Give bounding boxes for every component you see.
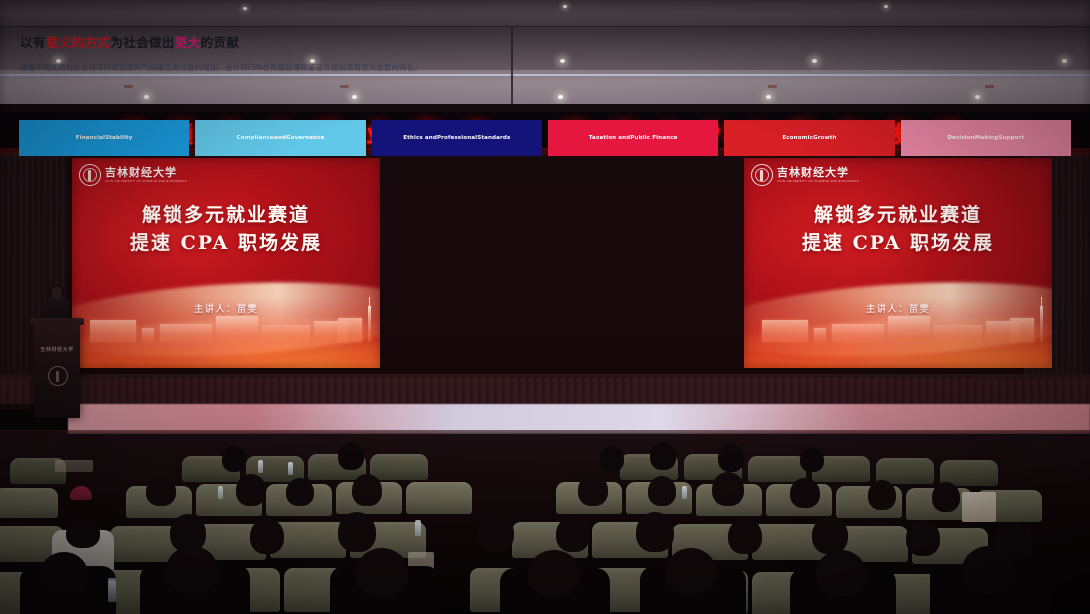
audience-head: [222, 446, 246, 472]
building-shape: [934, 325, 982, 342]
audience-head: [236, 474, 266, 506]
audience-head: [790, 478, 820, 508]
building-shape: [814, 328, 826, 342]
audience-head: [166, 546, 218, 594]
bottle-cap: [108, 578, 116, 581]
title-slide-right: 吉林财经大学 JILIN UNIVERSITY OF FINANCE AND E…: [744, 158, 1052, 368]
seat: [370, 454, 428, 480]
slide-heading: 以有意义的方式为社会做出更大的贡献: [20, 32, 239, 51]
building-shape: [160, 324, 212, 342]
downlight-icon: [563, 5, 567, 8]
ceiling-fixture-icon: [340, 85, 349, 88]
audience-head: [666, 548, 716, 594]
university-logo: 吉林财经大学 JILIN UNIVERSITY OF FINANCE AND E…: [79, 164, 187, 186]
audience-head: [962, 546, 1016, 594]
campus-tower-shape: [1040, 306, 1043, 342]
seat: [406, 482, 472, 514]
category-box: DecisionMakingSupport: [901, 120, 1071, 156]
building-shape: [762, 320, 808, 342]
university-logo-cn: 吉林财经大学: [105, 167, 187, 178]
presenter-head: [51, 286, 62, 299]
ceiling-upper: [0, 0, 1090, 26]
slide-speaker-right: 主讲人：苗雯: [744, 301, 1052, 315]
category-box-line: Support: [998, 134, 1024, 143]
university-logo-en: JILIN UNIVERSITY OF FINANCE AND ECONOMIC…: [105, 180, 187, 183]
swoosh-decor: [72, 313, 380, 368]
heading-seg: 的贡献: [201, 35, 240, 50]
heading-seg: 为社会做出: [110, 35, 175, 50]
downlight-icon: [144, 95, 149, 99]
audience-head: [528, 550, 580, 596]
seat: [0, 488, 58, 518]
slide-title-line2: 提速 CPA 职场发展: [72, 230, 380, 258]
audience-head: [338, 442, 364, 470]
auditorium-photo: 解 锁 多 元 就 业 赛 道 ， 提 速 C P A 职 场 发 展 吉林财经…: [0, 0, 1090, 614]
red-hat: [70, 486, 92, 500]
heading-seg-red: 意义的方式: [46, 35, 111, 50]
slide-speaker-left: 主讲人：苗雯: [72, 301, 380, 315]
campus-skyline-illustration: [756, 306, 1042, 342]
category-box-line: Public Finance: [630, 134, 677, 143]
category-box-line: Making: [975, 134, 999, 143]
left-projection-screen: 吉林财经大学 JILIN UNIVERSITY OF FINANCE AND E…: [72, 158, 380, 368]
right-projection-screen: 吉林财经大学 JILIN UNIVERSITY OF FINANCE AND E…: [744, 158, 1052, 368]
university-logo: 吉林财经大学 JILIN UNIVERSITY OF FINANCE AND E…: [751, 164, 859, 186]
category-box-line: Professional: [437, 134, 477, 143]
audience-head: [578, 474, 608, 506]
slide-body-text: 随着不同规模的企业对可持续发展和气候报告关注度的增加，会计师CPA在数据管理和鉴…: [20, 61, 1068, 75]
audience-head: [146, 476, 176, 506]
category-box-line: Ethics and: [403, 134, 437, 143]
swoosh-decor: [744, 274, 1052, 366]
downlight-icon: [243, 7, 247, 10]
slide-title-line2: 提速 CPA 职场发展: [744, 230, 1052, 258]
audience-head: [478, 514, 514, 552]
tote-bag: [962, 492, 996, 522]
ceiling-fixture-icon: [985, 85, 994, 88]
podium-university-text: 吉林财经大学: [34, 346, 80, 353]
audience-head: [728, 518, 762, 554]
slide-title-right: 解锁多元就业赛道 提速 CPA 职场发展: [744, 202, 1052, 257]
water-bottle: [682, 486, 687, 499]
university-logo-cn: 吉林财经大学: [777, 167, 859, 178]
category-box-row: FinancialStability ComplianceandGovernan…: [19, 120, 1071, 156]
water-bottle: [108, 580, 116, 602]
podium-seal-icon: [48, 366, 68, 386]
university-seal-icon: [751, 164, 773, 186]
building-shape: [1010, 318, 1034, 342]
downlight-icon: [884, 5, 888, 8]
swoosh-decor: [72, 274, 380, 366]
audience-head: [66, 518, 100, 548]
audience-head: [250, 518, 284, 554]
audience-head: [800, 448, 824, 472]
category-box: Taxation andPublic Finance: [548, 120, 718, 156]
audience-seating-area: [0, 434, 1090, 614]
category-box-line: Stability: [105, 134, 132, 143]
category-box-line: Taxation and: [589, 134, 631, 143]
audience-head: [636, 512, 674, 552]
audience-head: [338, 512, 376, 552]
slide-title-left: 解锁多元就业赛道 提速 CPA 职场发展: [72, 202, 380, 257]
audience-head: [356, 548, 408, 596]
ceiling-fixture-icon: [124, 85, 133, 88]
building-shape: [314, 321, 348, 342]
audience-head: [712, 472, 744, 506]
campus-skyline-illustration: [84, 306, 370, 342]
water-bottle: [258, 460, 263, 473]
category-box-line: Governance: [286, 134, 324, 143]
downlight-icon: [352, 95, 357, 99]
building-shape: [888, 316, 930, 342]
audience-head: [286, 478, 314, 506]
downlight-icon: [558, 95, 563, 99]
water-bottle: [415, 520, 421, 536]
audience-head: [816, 550, 866, 596]
podium: 吉林财经大学: [34, 322, 80, 418]
seat: [748, 456, 806, 482]
audience-head: [556, 516, 590, 552]
category-box: Ethics andProfessionalStandards: [372, 120, 542, 156]
university-seal-icon: [79, 164, 101, 186]
audience-head: [650, 442, 676, 470]
heading-seg: 以有: [20, 35, 46, 50]
building-shape: [832, 324, 884, 342]
downlight-icon: [766, 95, 771, 99]
audience-head: [868, 480, 896, 510]
slide-title-line1: 解锁多元就业赛道: [72, 202, 380, 230]
ceiling-fixture-icon: [768, 85, 777, 88]
university-logo-en: JILIN UNIVERSITY OF FINANCE AND ECONOMIC…: [777, 180, 859, 183]
building-shape: [986, 321, 1020, 342]
audience-head: [40, 552, 88, 596]
audience-head: [932, 482, 960, 512]
category-box-line: Compliance: [236, 134, 273, 143]
category-box-line: Decision: [947, 134, 975, 143]
audience-head: [718, 444, 744, 472]
audience-head: [648, 476, 676, 506]
downlight-icon: [975, 95, 980, 99]
building-shape: [142, 328, 154, 342]
category-box: FinancialStability: [19, 120, 189, 156]
building-shape: [216, 316, 258, 342]
water-bottle: [288, 462, 293, 475]
category-box-line: Economic: [782, 134, 813, 143]
swoosh-decor: [744, 313, 1052, 368]
category-box-line: Standards: [477, 134, 510, 143]
category-box: EconomicGrowth: [724, 120, 894, 156]
audience-head: [352, 474, 382, 506]
category-box-line: and: [274, 134, 286, 143]
slide-title-line1: 解锁多元就业赛道: [744, 202, 1052, 230]
category-box-line: Growth: [813, 134, 837, 143]
audience-head: [906, 520, 940, 556]
heading-seg-pink: 更大: [175, 35, 201, 50]
building-shape: [262, 325, 310, 342]
audience-head: [600, 446, 624, 472]
building-shape: [90, 320, 136, 342]
category-box: ComplianceandGovernance: [195, 120, 365, 156]
campus-tower-shape: [368, 306, 371, 342]
building-shape: [338, 318, 362, 342]
title-slide-left: 吉林财经大学 JILIN UNIVERSITY OF FINANCE AND E…: [72, 158, 380, 368]
category-box-line: Financial: [76, 134, 105, 143]
audience-head: [812, 516, 848, 554]
water-bottle: [218, 486, 223, 499]
stage-skirt: [0, 378, 1090, 404]
stage-item: [55, 460, 93, 472]
